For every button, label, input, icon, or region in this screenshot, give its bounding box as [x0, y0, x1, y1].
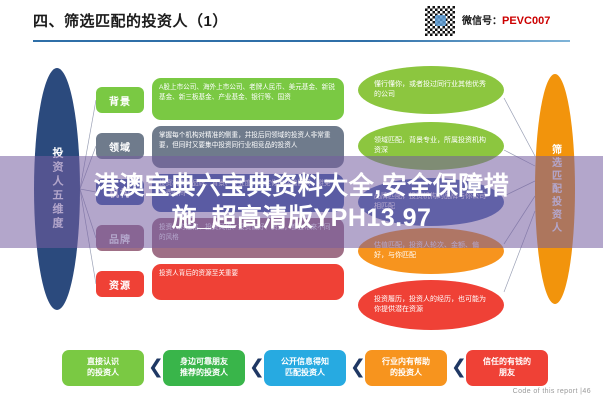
wechat-id-value: PEVC007 [502, 15, 550, 27]
description-bar-0: A股上市公司、海外上市公司、老牌人民币、美元基金、新锐基金、新三板基金、产业基金… [152, 78, 344, 120]
flow-step-label: 信任的有钱的朋友 [483, 357, 531, 379]
callout-text: 投资履历，投资人的经历，也可能为你提供潜在资源 [374, 295, 488, 316]
dimension-chip-label: 背景 [109, 93, 131, 108]
wechat-id-label: 微信号：PEVC007 [462, 12, 550, 27]
flow-step-label: 行业内有帮助的投资人 [382, 357, 430, 379]
flow-chevron-3-icon: ❮ [451, 357, 465, 379]
callout-text: 懂行懂你，或者投过同行业其他优秀的公司 [374, 80, 488, 101]
dimension-chip-label: 领域 [109, 139, 131, 154]
callout-text: 领域匹配，背景专业，所属投资机构资深 [374, 136, 488, 157]
description-text: A股上市公司、海外上市公司、老牌人民币、美元基金、新锐基金、新三板基金、产业基金… [159, 84, 335, 101]
flow-step-label: 公开信息得知匹配投资人 [281, 357, 329, 379]
qr-center-mark [435, 15, 446, 26]
flow-step-4[interactable]: 信任的有钱的朋友 [466, 350, 548, 386]
description-text: 投资人背后的资源至关重要 [159, 270, 238, 277]
bottom-flow: 直接认识的投资人 ❮ 身边可靠朋友推荐的投资人 ❮ 公开信息得知匹配投资人 ❮ … [0, 350, 603, 392]
qr-code-icon [424, 5, 456, 37]
flow-step-3[interactable]: 行业内有帮助的投资人 [365, 350, 447, 386]
flow-step-2[interactable]: 公开信息得知匹配投资人 [264, 350, 346, 386]
dimension-chip-0[interactable]: 背景 [96, 87, 144, 113]
flow-chevron-1-icon: ❮ [249, 357, 263, 379]
description-text: 掌握每个机构对精准的侧重，并投后同领域的投资人非常重要，但同时又要集中投资同行业… [159, 132, 330, 149]
page-title: 四、筛选匹配的投资人（1） [33, 10, 228, 31]
slide-header: 四、筛选匹配的投资人（1） 微信号：PEVC007 [0, 0, 603, 46]
title-divider [33, 40, 570, 42]
description-bar-4: 投资人背后的资源至关重要 [152, 264, 344, 300]
flow-chevron-2-icon: ❮ [350, 357, 364, 379]
flow-step-1[interactable]: 身边可靠朋友推荐的投资人 [163, 350, 245, 386]
footer-code: Code of this report |46 [513, 388, 591, 395]
wechat-prefix: 微信号： [462, 16, 502, 27]
watermark-band [0, 156, 603, 248]
callout-oval-4: 投资履历，投资人的经历，也可能为你提供潜在资源 [358, 280, 504, 330]
callout-oval-0: 懂行懂你，或者投过同行业其他优秀的公司 [358, 66, 504, 114]
dimension-chip-label: 资源 [109, 277, 131, 292]
flow-step-label: 直接认识的投资人 [87, 357, 119, 379]
flow-step-label: 身边可靠朋友推荐的投资人 [180, 357, 228, 379]
dimension-chip-4[interactable]: 资源 [96, 271, 144, 297]
flow-step-0[interactable]: 直接认识的投资人 [62, 350, 144, 386]
slide-canvas: 四、筛选匹配的投资人（1） 微信号：PEVC007 [0, 0, 603, 400]
flow-chevron-0-icon: ❮ [148, 357, 162, 379]
